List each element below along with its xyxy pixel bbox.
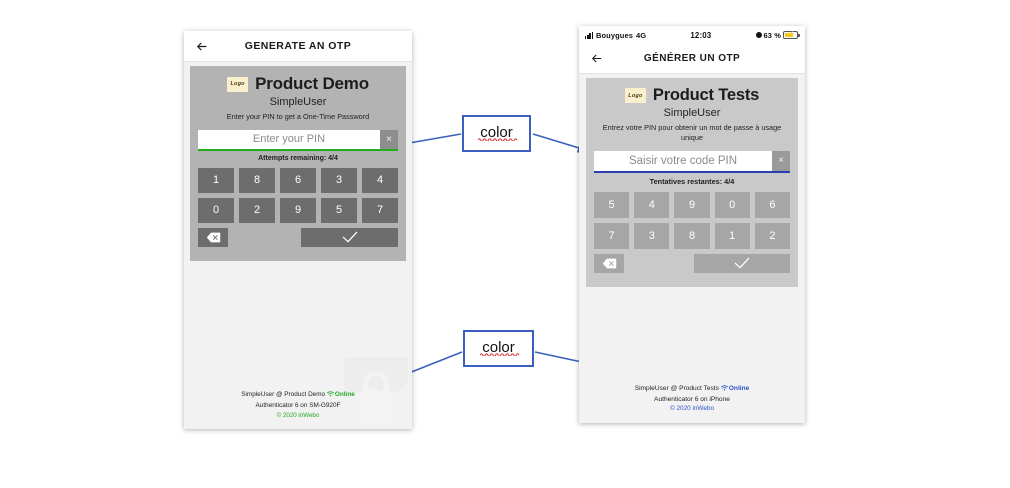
footer-account-right: SimpleUser @ Product Tests [635,385,719,392]
key-right-r1c4[interactable]: 0 [715,192,750,218]
battery-low-power-icon: ⚡ [783,31,798,39]
keypad-action-row-left [198,228,398,247]
phone-body-right: SimpleUser @ Product Tests Online Authen… [579,287,805,423]
key-right-r2c5[interactable]: 2 [755,223,790,249]
backspace-button-right[interactable] [594,254,624,273]
clear-pin-button-left[interactable]: × [380,130,398,149]
back-button-right[interactable] [579,52,613,65]
keypad-row-1-right: 5 4 9 0 6 [594,192,790,218]
key-left-r1c5[interactable]: 4 [362,168,398,193]
page-title-left: GENERATE AN OTP [184,40,412,52]
pin-input-row-right[interactable]: Saisir votre code PIN × [594,151,790,171]
key-left-r1c2[interactable]: 8 [239,168,275,193]
attempts-remaining-right: Tentatives restantes: 4/4 [594,177,790,186]
confirm-button-right[interactable] [694,254,790,273]
network-type: 4G [636,31,646,40]
annotation-box-pin-color: color [462,115,531,152]
key-left-r1c4[interactable]: 3 [321,168,357,193]
key-left-r2c2[interactable]: 2 [239,198,275,223]
arrow-left-icon [195,40,208,53]
key-left-r2c4[interactable]: 5 [321,198,357,223]
brand-name-right: Product Tests [653,86,759,105]
brand-name-left: Product Demo [255,74,369,94]
user-name-right: SimpleUser [594,107,790,119]
carrier-name: Bouygues [596,31,633,40]
spellcheck-squiggle-icon [478,137,519,141]
hint-text-left: Enter your PIN to get a One-Time Passwor… [198,112,398,122]
backspace-icon [602,258,617,269]
statusbar-right-group: 63 % ⚡ [756,31,799,40]
statusbar-clock: 12:03 [646,31,755,40]
hint-text-right: Entrez votre PIN pour obtenir un mot de … [594,123,790,143]
confirm-button-left[interactable] [301,228,398,247]
screenshot-canvas: GENERATE AN OTP Logo Product Demo Simple… [0,0,1010,488]
spellcheck-squiggle-icon [480,352,521,356]
footer-right: SimpleUser @ Product Tests Online Authen… [579,384,805,414]
keypad-row-2-left: 0 2 9 5 7 [198,198,398,223]
clear-pin-button-right[interactable]: × [772,151,790,171]
brand-row-right: Logo Product Tests [594,86,790,105]
arrow-left-icon [590,52,603,65]
key-right-r2c4[interactable]: 1 [715,223,750,249]
key-right-r1c1[interactable]: 5 [594,192,629,218]
annotation-box-footer-color: color [463,330,534,367]
battery-percent: 63 % [764,31,782,40]
phone-android: GENERATE AN OTP Logo Product Demo Simple… [184,31,412,429]
footer-left: SimpleUser @ Product Demo Online Authent… [184,390,412,420]
keypad-left: 1 8 6 3 4 0 2 9 5 7 [198,168,398,247]
status-online-right: Online [729,385,750,392]
pin-input-left[interactable]: Enter your PIN [198,130,380,149]
key-left-r2c1[interactable]: 0 [198,198,234,223]
backspace-button-left[interactable] [198,228,228,247]
key-right-r2c1[interactable]: 7 [594,223,629,249]
keypad-right: 5 4 9 0 6 7 3 8 1 2 [594,192,790,273]
key-left-r1c1[interactable]: 1 [198,168,234,193]
statusbar-right: Bouygues 4G 12:03 63 % ⚡ [579,26,805,44]
navbar-left: GENERATE AN OTP [184,31,412,62]
key-right-r1c3[interactable]: 9 [674,192,709,218]
key-right-r1c2[interactable]: 4 [634,192,669,218]
otp-card-left: Logo Product Demo SimpleUser Enter your … [190,66,406,261]
navbar-right: GÉNÉRER UN OTP [579,44,805,74]
key-right-r2c2[interactable]: 3 [634,223,669,249]
footer-copyright-left: © 2020 inWebo [184,411,412,420]
key-right-r2c3[interactable]: 8 [674,223,709,249]
footer-device-right: Authenticator 6 on iPhone [579,395,805,405]
alarm-icon [756,32,762,38]
wifi-icon [721,385,728,395]
pin-underline-right [594,171,790,173]
phone-ios: Bouygues 4G 12:03 63 % ⚡ GÉNÉRER UN OTP … [579,26,805,423]
status-online-left: Online [335,391,355,398]
backspace-icon [206,232,221,243]
footer-account-left: SimpleUser @ Product Demo [241,391,325,398]
otp-card-right: Logo Product Tests SimpleUser Entrez vot… [586,78,798,287]
key-left-r1c3[interactable]: 6 [280,168,316,193]
pin-underline-left [198,149,398,151]
footer-copyright-right: © 2020 inWebo [579,404,805,414]
attempts-remaining-left: Attempts remaining: 4/4 [198,155,398,162]
check-icon [342,231,358,243]
pin-input-row-left[interactable]: Enter your PIN × [198,130,398,149]
user-name-left: SimpleUser [198,96,398,108]
logo-badge-right: Logo [625,88,646,103]
keypad-action-row-right [594,254,790,273]
footer-device-left: Authenticator 6 on SM-G920F [184,401,412,411]
footer-line1-left: SimpleUser @ Product Demo Online [184,390,412,401]
cellular-signal-icon [585,32,593,39]
keypad-row-1-left: 1 8 6 3 4 [198,168,398,193]
wifi-icon [327,391,334,401]
key-left-r2c3[interactable]: 9 [280,198,316,223]
key-right-r1c5[interactable]: 6 [755,192,790,218]
brand-row-left: Logo Product Demo [198,74,398,94]
pin-input-right[interactable]: Saisir votre code PIN [594,151,772,171]
footer-line1-right: SimpleUser @ Product Tests Online [579,384,805,395]
key-left-r2c5[interactable]: 7 [362,198,398,223]
logo-badge-left: Logo [227,77,248,92]
check-icon [734,257,750,269]
back-button-left[interactable] [184,40,218,53]
annotation-arrows [0,0,1010,488]
keypad-row-2-right: 7 3 8 1 2 [594,223,790,249]
phone-body-left: SimpleUser @ Product Demo Online Authent… [184,261,412,429]
statusbar-left-group: Bouygues 4G [585,31,646,40]
